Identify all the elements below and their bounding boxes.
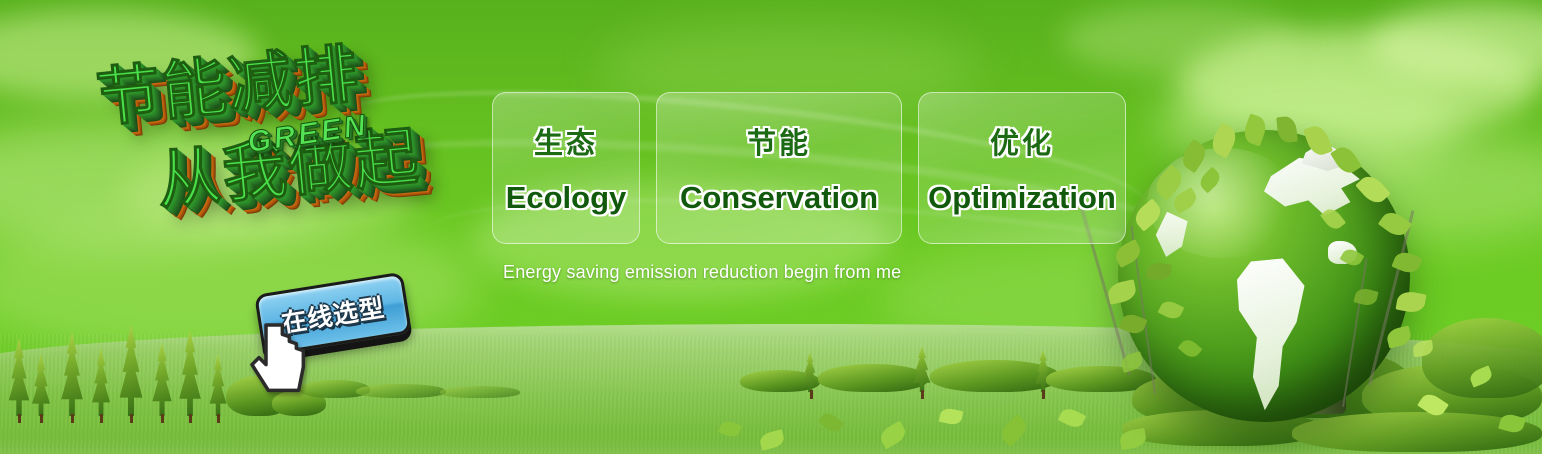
feature-card-cn-label: 生态 [534,120,598,162]
cloud-icon [0,120,330,250]
cloud-icon [1180,28,1540,138]
continent-greenland [1153,212,1200,265]
continent-island [1328,241,1357,264]
headline-line-2: 从我做起 [154,121,423,216]
headline-overlay-green: GREEN [245,109,370,161]
globe-icon [1118,130,1410,422]
cloud-icon [1370,4,1542,84]
feature-card-en-label: Ecology [506,180,627,216]
feature-card-ecology[interactable]: 生态 Ecology [492,92,640,244]
continent-south-america [1223,258,1322,410]
headline-artwork: 节能减排 从我做起 GREEN [93,25,514,302]
headline-line-1: 节能减排 [93,38,362,133]
feature-card-conservation[interactable]: 节能 Conservation [656,92,902,244]
cloud-icon [1060,4,1300,74]
feature-card-en-label: Conservation [680,180,878,216]
green-energy-banner: 节能减排 从我做起 GREEN 在线选型 生态 Ecology 节能 Conse… [0,0,1542,454]
feature-card-en-label: Optimization [928,180,1116,216]
feature-card-cn-label: 优化 [990,120,1054,162]
leaf-globe [1118,130,1410,422]
banner-tagline: Energy saving emission reduction begin f… [503,262,901,283]
feature-card-optimization[interactable]: 优化 Optimization [918,92,1126,244]
cloud-icon [120,145,420,241]
feature-card-cn-label: 节能 [747,120,811,162]
cloud-icon [0,10,260,100]
feature-card-list: 生态 Ecology 节能 Conservation 优化 Optimizati… [492,92,1126,244]
